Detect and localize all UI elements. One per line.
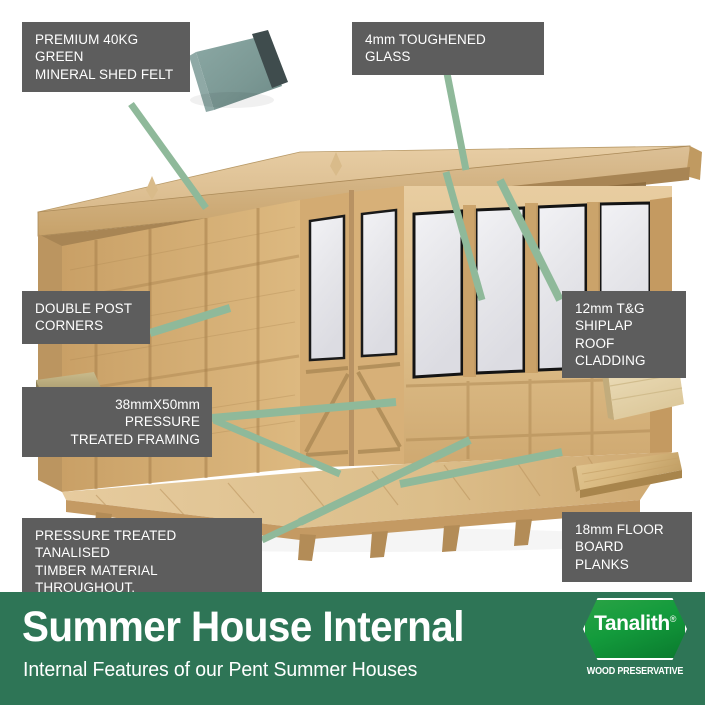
page-subtitle: Internal Features of our Pent Summer Hou… [23, 658, 417, 682]
door-left-glass-pane [310, 216, 344, 360]
tanalith-wordmark: Tanalith® [579, 612, 691, 636]
callout-pressure-treated-framing: 38mmX50mm PRESSURE TREATED FRAMING [22, 387, 212, 457]
tanalith-tagline: WOOD PRESERVATIVE [585, 666, 686, 677]
tanalith-word-text: Tanalith [594, 612, 670, 635]
tanalith-logo: Tanalith® WOOD PRESERVATIVE [579, 596, 691, 696]
door-meeting-stile [349, 190, 354, 466]
callout-toughened-glass: 4mm TOUGHENED GLASS [352, 22, 544, 75]
page-title: Summer House Internal [22, 603, 464, 652]
footer-banner: Summer House Internal Internal Features … [0, 592, 705, 705]
shed-felt-swatch [189, 30, 288, 112]
window-pane [414, 211, 462, 377]
callout-double-post-corners: DOUBLE POST CORNERS [22, 291, 150, 344]
callout-shiplap-roof-cladding: 12mm T&G SHIPLAP ROOF CLADDING [562, 291, 686, 378]
registered-trademark-icon: ® [670, 614, 676, 624]
callout-premium-shed-felt: PREMIUM 40KG GREEN MINERAL SHED FELT [22, 22, 190, 92]
window-pane [476, 208, 524, 373]
callout-floor-board-planks: 18mm FLOOR BOARD PLANKS [562, 512, 692, 582]
infographic-root: PREMIUM 40KG GREEN MINERAL SHED FELT 4mm… [0, 0, 705, 705]
door-right-glass-pane [362, 210, 396, 356]
